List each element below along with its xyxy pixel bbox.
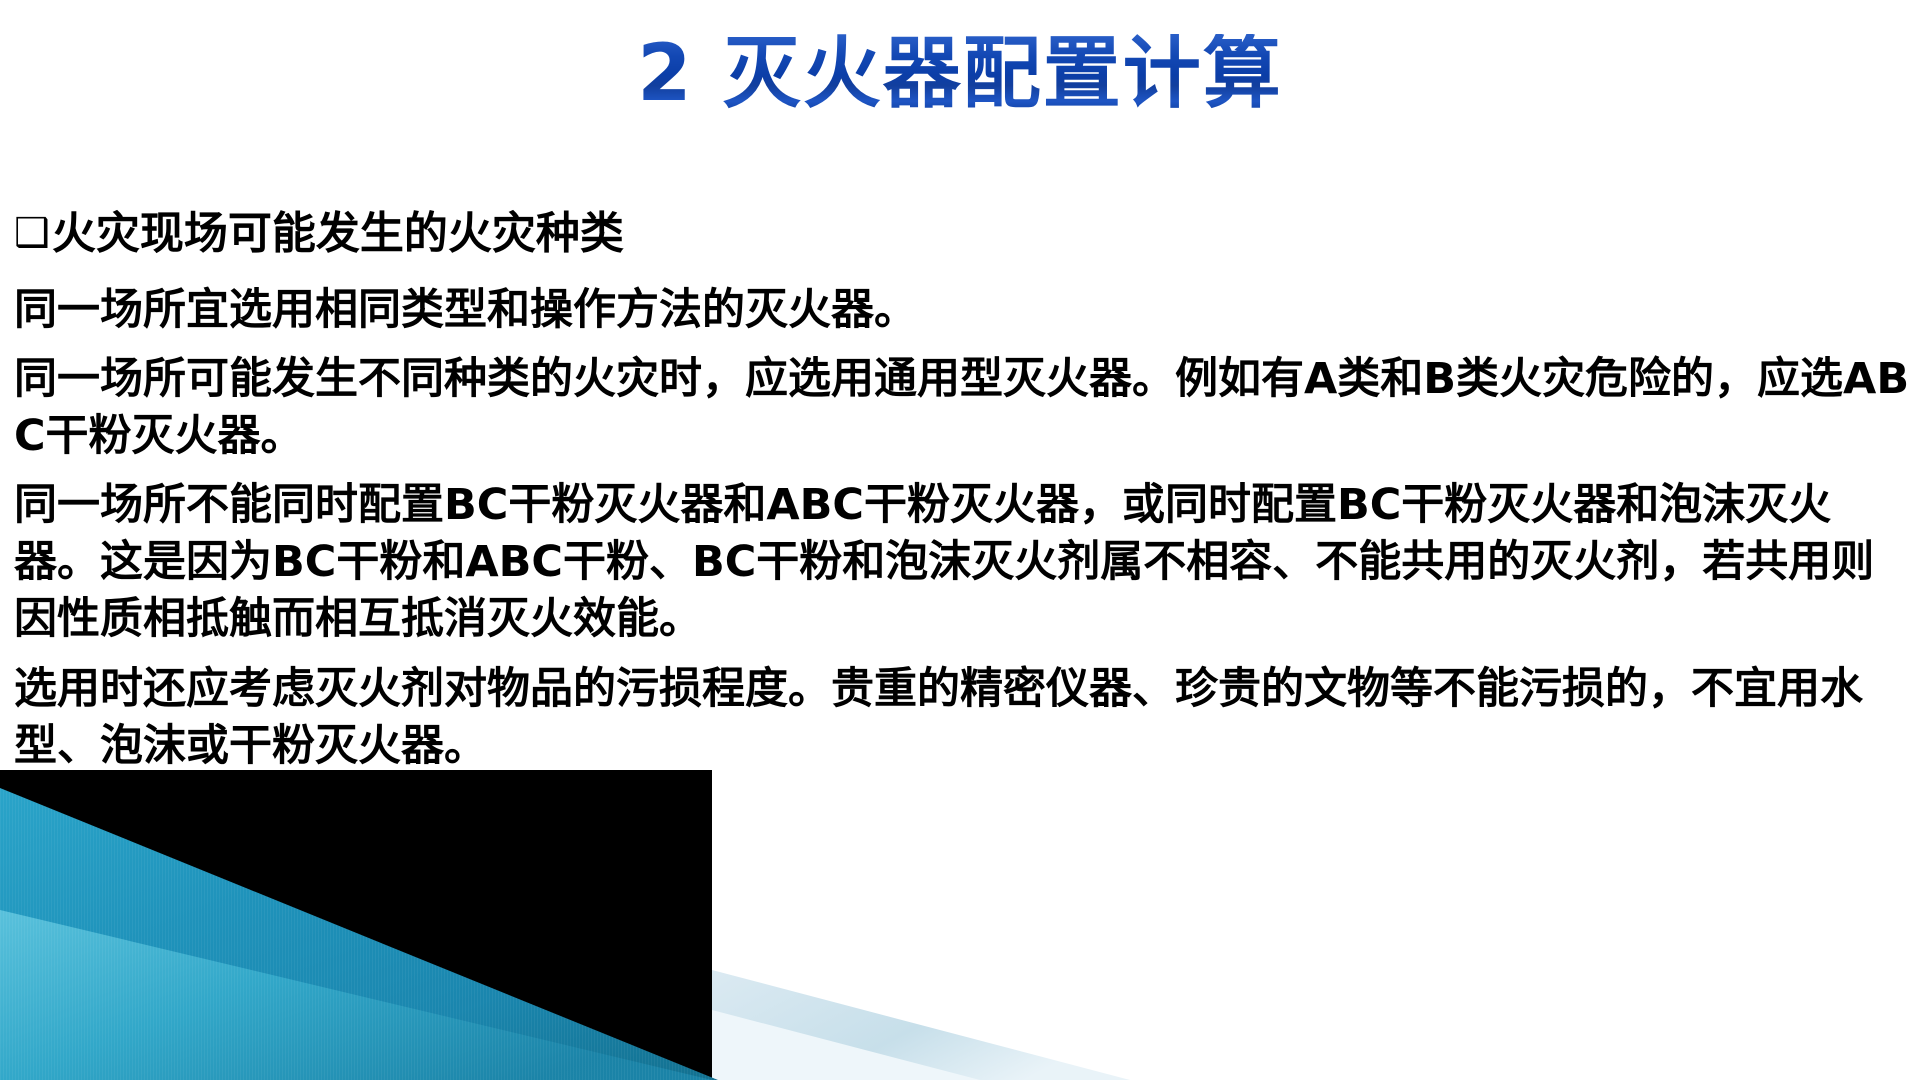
slide-title-text: 2 灭火器配置计算 [637,34,1282,116]
body-paragraph-5: 选用时还应考虑灭火剂对物品的污损程度。贵重的精密仪器、珍贵的文物等不能污损的，不… [14,661,1910,775]
bullet-item-label: 火灾现场可能发生的火灾种类 [52,205,624,264]
body-paragraph-3: 同一场所可能发生不同种类的火灾时，应选用通用型灭火器。例如有A类和B类火灾危险的… [14,351,1910,465]
slide-body: ❑ 火灾现场可能发生的火灾种类 同一场所宜选用相同类型和操作方法的灭火器。 同一… [14,205,1910,775]
slide-canvas: 2 灭火器配置计算 2 灭火器配置计算 ❑ 火灾现场可能发生的火灾种类 同一场所… [0,0,1920,1080]
deco-teal-light-band [0,910,712,1080]
body-paragraph-4: 同一场所不能同时配置BC干粉灭火器和ABC干粉灭火器，或同时配置BC干粉灭火器和… [14,477,1910,649]
deco-pale-blue-sliver [712,970,1130,1080]
deco-black-wedge [0,770,712,1080]
deco-teal-band [0,788,718,1080]
deco-teal-texture [0,788,718,1080]
bullet-list-item: ❑ 火灾现场可能发生的火灾种类 [14,205,1910,264]
body-paragraph-2: 同一场所宜选用相同类型和操作方法的灭火器。 [14,282,1910,339]
hollow-square-bullet-icon: ❑ [14,213,50,253]
title-reflection: 2 灭火器配置计算 [0,152,1920,178]
deco-pale-streak [712,1010,980,1080]
slide-title: 2 灭火器配置计算 [0,34,1920,116]
